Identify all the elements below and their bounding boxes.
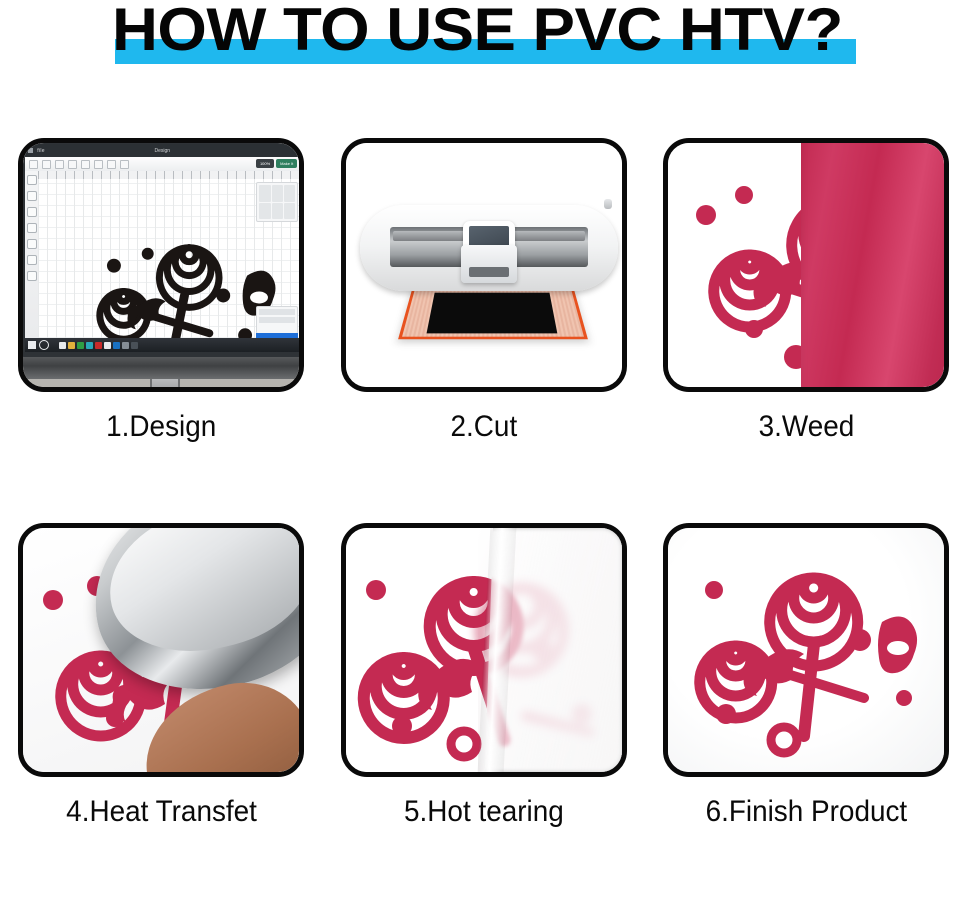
lollipop-artwork-finished — [668, 528, 944, 772]
step-caption-finish-product: 6.Finish Product — [706, 795, 908, 829]
tool-images-icon[interactable] — [27, 223, 37, 233]
toolbar-arrange-icon[interactable] — [68, 160, 77, 169]
toolbar-flip-icon[interactable] — [81, 160, 90, 169]
tool-new-icon[interactable] — [27, 175, 37, 185]
tool-projects-icon[interactable] — [27, 207, 37, 217]
cutting-machine — [360, 205, 618, 291]
step-cell-finish-product: 6.Finish Product — [645, 523, 968, 908]
weed-scene — [668, 143, 944, 387]
layer-thumb — [272, 203, 283, 220]
page-header: HOW TO USE PVC HTV? — [0, 0, 968, 96]
layer-thumb — [272, 185, 283, 202]
taskbar-app5-icon[interactable] — [104, 342, 111, 349]
monitor-chin — [21, 357, 303, 379]
layer-thumb — [259, 203, 270, 220]
app-title-bar: file Design — [25, 144, 299, 157]
toolbar-position-icon[interactable] — [120, 160, 129, 169]
toolbar-right-group: 100% Make It — [256, 159, 297, 168]
tool-text-icon[interactable] — [27, 239, 37, 249]
layers-panel[interactable] — [256, 182, 298, 222]
cortana-search-icon[interactable] — [39, 340, 49, 350]
heat-transfer-scene — [23, 528, 299, 772]
layer-thumb — [259, 185, 270, 202]
app-toolbar: 100% Make It — [25, 157, 299, 172]
panel-design: file Design — [18, 138, 304, 392]
tool-shapes-icon[interactable] — [27, 255, 37, 265]
step-cell-design: file Design — [0, 138, 323, 523]
toolbar-select-icon[interactable] — [29, 160, 38, 169]
step-caption-design: 1.Design — [106, 410, 216, 444]
tool-upload-icon[interactable] — [27, 271, 37, 281]
panel-heat-transfer — [18, 523, 304, 777]
step-caption-cut: 2.Cut — [451, 410, 518, 444]
step-caption-weed: 3.Weed — [759, 410, 855, 444]
taskbar-app7-icon[interactable] — [122, 342, 129, 349]
taskbar-app6-icon[interactable] — [113, 342, 120, 349]
taskbar-excel-icon[interactable] — [77, 342, 84, 349]
step-cell-hot-tearing: 5.Hot tearing — [323, 523, 646, 908]
steps-row-bottom: 4.Heat Transfet — [0, 523, 968, 908]
steps-grid: file Design — [0, 138, 968, 908]
panel-cut — [341, 138, 627, 392]
step-cell-heat-transfer: 4.Heat Transfet — [0, 523, 323, 908]
app-file-label: file — [37, 148, 45, 154]
machine-dial-knob[interactable] — [604, 199, 612, 209]
toolbar-size-icon[interactable] — [94, 160, 103, 169]
taskbar-app4-icon[interactable] — [95, 342, 102, 349]
property-row — [259, 317, 295, 323]
cutting-mat — [398, 287, 588, 339]
property-row — [259, 309, 295, 315]
step-caption-hot-tearing: 5.Hot tearing — [404, 795, 564, 829]
taskbar-app8-icon[interactable] — [131, 342, 138, 349]
taskbar-explorer-icon[interactable] — [59, 342, 66, 349]
app-document-name: Design — [155, 148, 171, 154]
toolbar-edit-icon[interactable] — [42, 160, 51, 169]
taskbar-app3-icon[interactable] — [86, 342, 93, 349]
toolbar-align-icon[interactable] — [55, 160, 64, 169]
step-cell-weed: 3.Weed — [645, 138, 968, 523]
machine-carriage — [461, 245, 517, 283]
panel-weed — [663, 138, 949, 392]
make-it-button[interactable]: Make It — [276, 159, 297, 168]
windows-taskbar — [25, 338, 299, 352]
app-menu-icon — [28, 148, 33, 153]
monitor-stand — [150, 379, 180, 392]
properties-panel[interactable] — [256, 306, 298, 334]
iron-soleplate — [94, 528, 299, 671]
windows-start-icon[interactable] — [28, 341, 36, 349]
toolbar-rotate-icon[interactable] — [107, 160, 116, 169]
panel-finish-product — [663, 523, 949, 777]
hot-tearing-scene — [346, 528, 622, 772]
layer-thumb — [284, 203, 295, 220]
taskbar-app-icons — [59, 342, 138, 349]
app-left-toolbar — [25, 171, 39, 352]
wrapped-candy-icon — [878, 616, 917, 673]
panel-hot-tearing — [341, 523, 627, 777]
vinyl-sheen — [801, 143, 945, 387]
design-software-window: file Design — [25, 144, 299, 352]
steps-row-top: file Design — [0, 138, 968, 523]
step-caption-heat-transfer: 4.Heat Transfet — [66, 795, 257, 829]
monitor-bezel: file Design — [21, 141, 303, 357]
excess-vinyl-sheet — [801, 143, 945, 387]
black-vinyl-sheet — [426, 293, 557, 334]
layer-thumb — [284, 185, 295, 202]
monitor-body: file Design — [19, 139, 304, 392]
page-title: HOW TO USE PVC HTV? — [112, 0, 918, 62]
taskbar-folder-icon[interactable] — [68, 342, 75, 349]
tool-templates-icon[interactable] — [27, 191, 37, 201]
step-cell-cut: 2.Cut — [323, 138, 646, 523]
zoom-level-chip[interactable]: 100% — [256, 159, 274, 168]
